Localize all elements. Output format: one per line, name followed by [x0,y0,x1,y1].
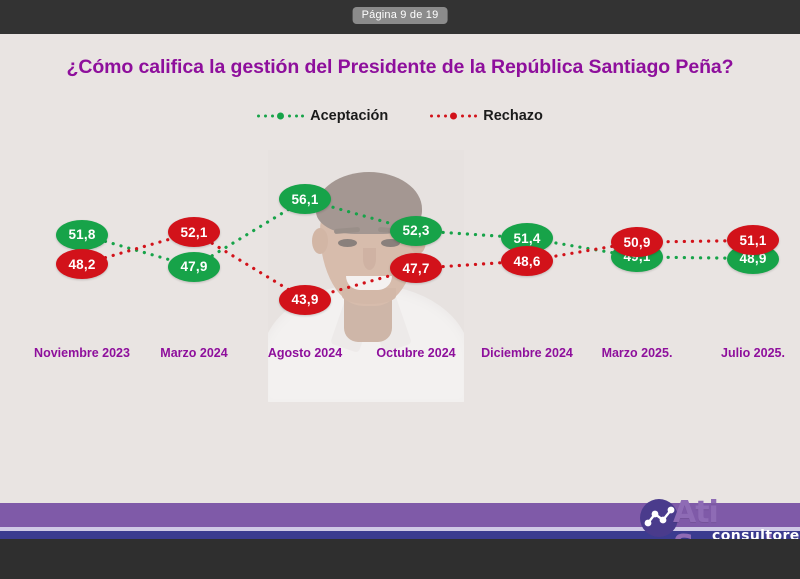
legend-item-aceptacion[interactable]: Aceptación [257,108,388,124]
brand-logo: Ati Snead consultores [640,496,800,539]
data-point-label: 48,2 [56,249,108,279]
data-point-label: 47,7 [390,253,442,283]
data-point-label: 51,1 [727,225,779,255]
data-point-label: 52,3 [390,216,442,246]
page-indicator-badge[interactable]: Página 9 de 19 [353,7,448,24]
data-point-label: 43,9 [279,285,331,315]
data-point-label: 52,1 [168,217,220,247]
legend-marker-green-icon [257,110,303,122]
data-point-label: 50,9 [611,227,663,257]
legend-label-aceptacion: Aceptación [310,108,388,124]
line-chart: 51,847,956,152,351,449,148,948,252,143,9… [0,132,800,432]
data-point-label: 51,8 [56,220,108,250]
data-point-label: 56,1 [279,184,331,214]
legend-item-rechazo[interactable]: Rechazo [430,108,543,124]
pdf-viewer: Página 9 de 19 ¿Cómo califica la gestión… [0,0,800,579]
slide-canvas: ¿Cómo califica la gestión del Presidente… [0,34,800,539]
logo-tagline: consultores [712,528,800,539]
page-title: ¿Cómo califica la gestión del Presidente… [0,56,800,79]
legend-label-rechazo: Rechazo [483,108,543,124]
data-point-label: 47,9 [168,252,220,282]
chart-legend: Aceptación Rechazo [0,108,800,124]
data-point-label: 48,6 [501,246,553,276]
legend-marker-red-icon [430,110,476,122]
viewer-toolbar: Página 9 de 19 [0,0,800,34]
chart-series-lines [0,132,800,432]
